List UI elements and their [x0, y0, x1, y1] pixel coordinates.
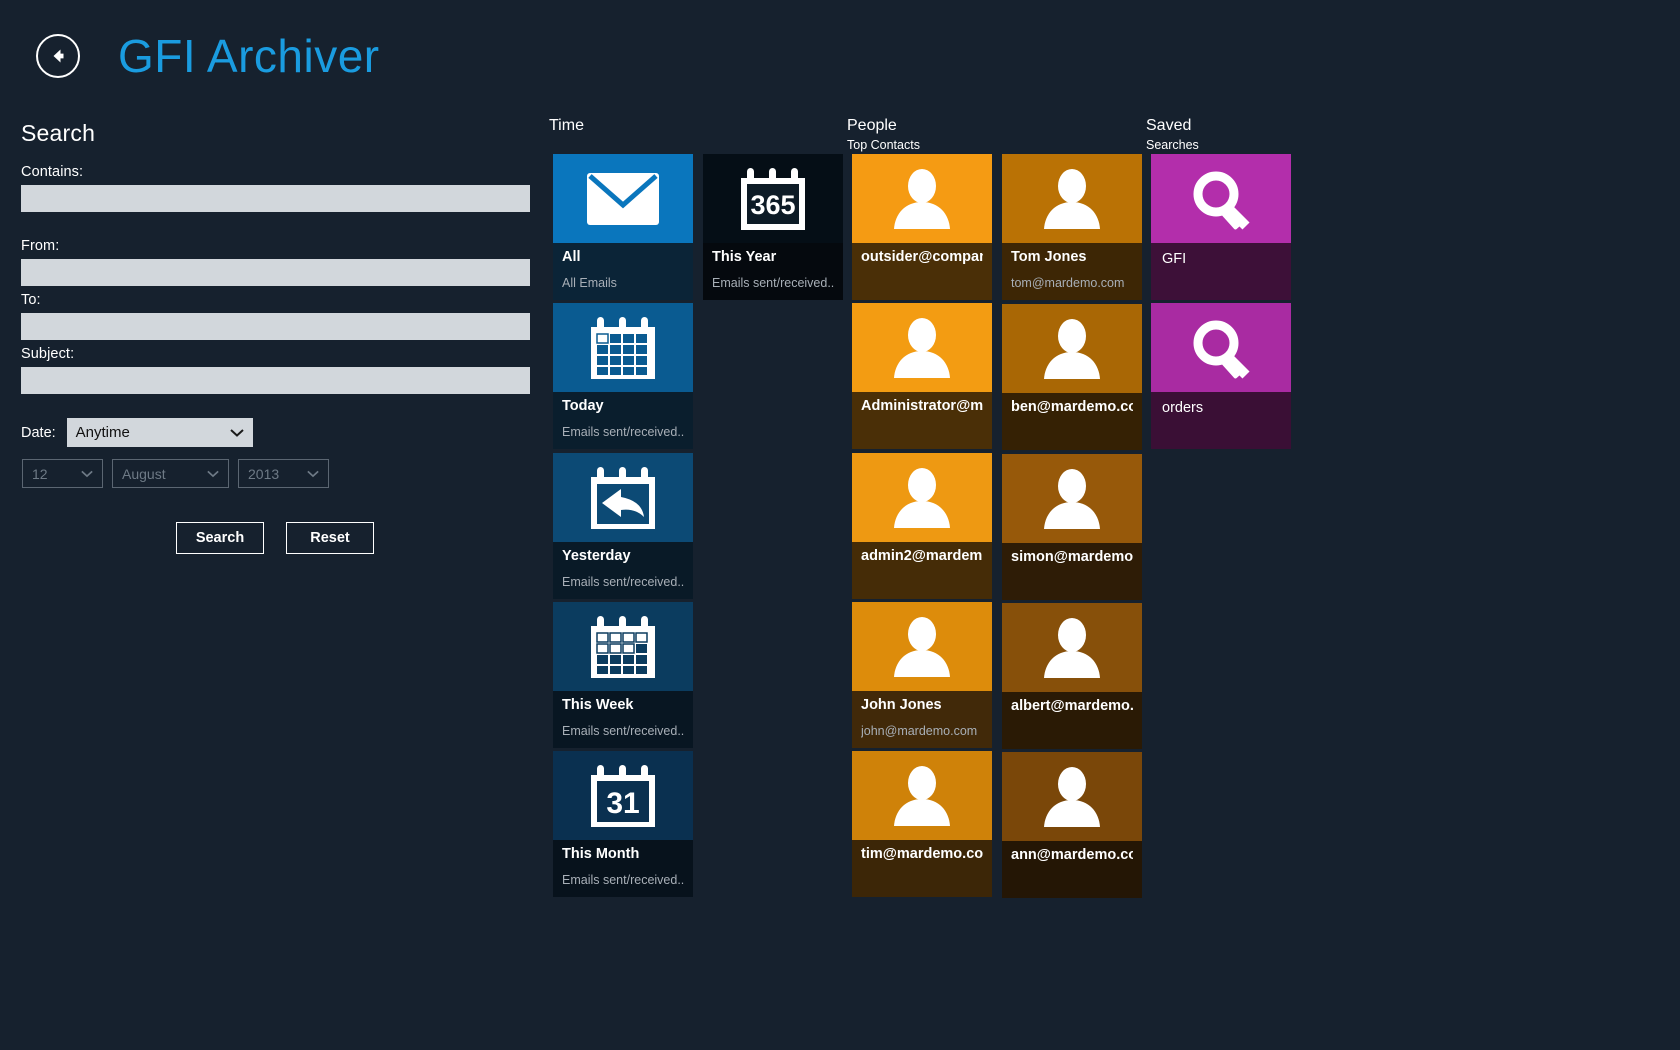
tile-title: simon@mardemo....	[1011, 549, 1133, 565]
time-tile[interactable]: TodayEmails sent/received...	[553, 303, 693, 449]
date-day-select[interactable]: 12	[22, 459, 103, 488]
tile-title: This Week	[562, 697, 684, 713]
person-icon	[889, 167, 955, 231]
envelope-icon	[586, 172, 660, 226]
tile-subtitle: Emails sent/received...	[562, 724, 684, 738]
chevron-down-icon	[307, 470, 319, 478]
saved-search-tile[interactable]: orders	[1151, 303, 1291, 449]
tile-artwork	[1002, 304, 1142, 393]
calendar-365-icon: 365	[738, 166, 808, 232]
column-title: People	[847, 117, 920, 135]
app-header: GFI Archiver	[0, 0, 1680, 108]
people-tile[interactable]: Administrator@m...	[852, 303, 992, 449]
time-tile[interactable]: 31This MonthEmails sent/received...	[553, 751, 693, 897]
tile-artwork: 31	[553, 751, 693, 840]
people-tile[interactable]: admin2@mardem...	[852, 453, 992, 599]
tile-artwork: 365	[703, 154, 843, 243]
tile-title: admin2@mardem...	[861, 548, 983, 564]
date-parts-row: 12 August 2013	[22, 459, 541, 488]
magnifier-icon	[1190, 317, 1252, 379]
tile-subtitle: tom@mardemo.com	[1011, 276, 1133, 290]
svg-text:31: 31	[606, 787, 639, 820]
tile-caption: ann@mardemo.co...	[1002, 841, 1142, 898]
chevron-down-icon	[81, 470, 93, 478]
tile-caption: outsider@compan...	[852, 243, 992, 300]
column-title: Time	[549, 117, 584, 135]
person-icon	[889, 615, 955, 679]
column-header-time: Time	[549, 117, 584, 135]
column-subtitle: Top Contacts	[847, 138, 920, 152]
tile-subtitle: Emails sent/received...	[562, 425, 684, 439]
people-tile[interactable]: ann@mardemo.co...	[1002, 752, 1142, 898]
tile-artwork	[1002, 603, 1142, 692]
tile-title: albert@mardemo....	[1011, 698, 1133, 714]
time-tile[interactable]: This WeekEmails sent/received...	[553, 602, 693, 748]
gfi-archiver-search-page: GFI Archiver Search Contains: From: To: …	[0, 0, 1680, 1050]
chevron-down-icon	[230, 428, 244, 437]
date-month-value: August	[113, 466, 166, 482]
tile-artwork	[852, 303, 992, 392]
people-tile[interactable]: outsider@compan...	[852, 154, 992, 300]
back-arrow-circle-icon[interactable]	[36, 34, 80, 78]
tile-title: Today	[562, 398, 684, 414]
search-actions: Search Reset	[176, 522, 541, 554]
tile-title: This Year	[712, 249, 834, 265]
tile-artwork	[1002, 454, 1142, 543]
person-icon	[1039, 765, 1105, 829]
tile-caption: tim@mardemo.com	[852, 840, 992, 897]
people-tile[interactable]: simon@mardemo....	[1002, 454, 1142, 600]
calendar-31-icon: 31	[588, 763, 658, 829]
calendar-grid-icon	[588, 315, 658, 381]
date-label: Date:	[21, 425, 56, 441]
tile-artwork	[553, 602, 693, 691]
tile-artwork	[852, 751, 992, 840]
person-icon	[889, 764, 955, 828]
date-day-value: 12	[23, 466, 48, 482]
page-title: GFI Archiver	[118, 26, 380, 86]
tile-caption: AllAll Emails	[553, 243, 693, 300]
tile-caption: John Jonesjohn@mardemo.com	[852, 691, 992, 748]
tile-caption: This MonthEmails sent/received...	[553, 840, 693, 897]
tile-title: This Month	[562, 846, 684, 862]
date-range-row: Date: Anytime	[21, 418, 541, 447]
svg-text:365: 365	[750, 190, 795, 220]
tile-caption: Administrator@m...	[852, 392, 992, 449]
column-header-people: People Top Contacts	[847, 117, 920, 152]
from-label: From:	[21, 238, 541, 254]
back-arrow-glyph	[47, 45, 69, 67]
tile-artwork	[553, 154, 693, 243]
tile-title: All	[562, 249, 684, 265]
tile-subtitle: Emails sent/received...	[562, 575, 684, 589]
people-tile[interactable]: albert@mardemo....	[1002, 603, 1142, 749]
tile-artwork	[852, 602, 992, 691]
tile-title: GFI	[1162, 251, 1280, 267]
date-year-value: 2013	[239, 466, 279, 482]
people-tile[interactable]: John Jonesjohn@mardemo.com	[852, 602, 992, 748]
tile-subtitle: All Emails	[562, 276, 684, 290]
search-panel: Search Contains: From: To: Subject: Date…	[21, 120, 541, 554]
subject-label: Subject:	[21, 346, 541, 362]
people-tile[interactable]: Tom Jonestom@mardemo.com	[1002, 154, 1142, 300]
search-heading: Search	[21, 120, 541, 147]
tile-title: Yesterday	[562, 548, 684, 564]
tile-artwork	[852, 154, 992, 243]
column-subtitle: Searches	[1146, 138, 1199, 152]
tile-artwork	[1151, 303, 1291, 392]
tile-title: Administrator@m...	[861, 398, 983, 414]
tile-caption: admin2@mardem...	[852, 542, 992, 599]
tile-title: ann@mardemo.co...	[1011, 847, 1133, 863]
date-month-select[interactable]: August	[112, 459, 229, 488]
tile-artwork	[1002, 752, 1142, 841]
saved-search-tile[interactable]: GFI	[1151, 154, 1291, 300]
tile-title: tim@mardemo.com	[861, 846, 983, 862]
to-label: To:	[21, 292, 541, 308]
tile-title: orders	[1162, 400, 1280, 416]
tile-artwork	[1002, 154, 1142, 243]
time-tile[interactable]: AllAll Emails	[553, 154, 693, 300]
tile-caption: This WeekEmails sent/received...	[553, 691, 693, 748]
tile-artwork	[1151, 154, 1291, 243]
column-title: Saved	[1146, 117, 1199, 135]
subject-input[interactable]	[21, 367, 530, 394]
person-icon	[1039, 317, 1105, 381]
reset-button[interactable]: Reset	[286, 522, 374, 554]
tile-caption: YesterdayEmails sent/received...	[553, 542, 693, 599]
tile-caption: albert@mardemo....	[1002, 692, 1142, 749]
person-icon	[1039, 167, 1105, 231]
tile-artwork	[553, 303, 693, 392]
tile-caption: TodayEmails sent/received...	[553, 392, 693, 449]
tile-caption: GFI	[1151, 243, 1291, 300]
tile-subtitle: Emails sent/received...	[562, 873, 684, 887]
magnifier-icon	[1190, 168, 1252, 230]
date-range-select[interactable]: Anytime	[67, 418, 253, 447]
people-tile[interactable]: tim@mardemo.com	[852, 751, 992, 897]
tile-artwork	[553, 453, 693, 542]
tile-title: ben@mardemo.co...	[1011, 399, 1133, 415]
tile-caption: simon@mardemo....	[1002, 543, 1142, 600]
tile-caption: ben@mardemo.co...	[1002, 393, 1142, 450]
column-header-saved: Saved Searches	[1146, 117, 1199, 152]
person-icon	[889, 466, 955, 530]
date-year-select[interactable]: 2013	[238, 459, 329, 488]
person-icon	[1039, 467, 1105, 531]
to-input[interactable]	[21, 313, 530, 340]
calendar-week-icon	[588, 614, 658, 680]
person-icon	[1039, 616, 1105, 680]
person-icon	[889, 316, 955, 380]
time-tile[interactable]: YesterdayEmails sent/received...	[553, 453, 693, 599]
contains-label: Contains:	[21, 164, 541, 180]
time-tile[interactable]: 365This YearEmails sent/received...	[703, 154, 843, 300]
tile-caption: orders	[1151, 392, 1291, 449]
tile-title: John Jones	[861, 697, 983, 713]
tile-caption: This YearEmails sent/received...	[703, 243, 843, 300]
tile-caption: Tom Jonestom@mardemo.com	[1002, 243, 1142, 300]
date-range-value: Anytime	[67, 424, 130, 441]
tile-subtitle: john@mardemo.com	[861, 724, 983, 738]
chevron-down-icon	[207, 470, 219, 478]
search-button[interactable]: Search	[176, 522, 264, 554]
tile-title: Tom Jones	[1011, 249, 1133, 265]
tile-artwork	[852, 453, 992, 542]
contains-input[interactable]	[21, 185, 530, 212]
tile-title: outsider@compan...	[861, 249, 983, 265]
tile-subtitle: Emails sent/received...	[712, 276, 834, 290]
from-input[interactable]	[21, 259, 530, 286]
people-tile[interactable]: ben@mardemo.co...	[1002, 304, 1142, 450]
calendar-back-icon	[588, 465, 658, 531]
